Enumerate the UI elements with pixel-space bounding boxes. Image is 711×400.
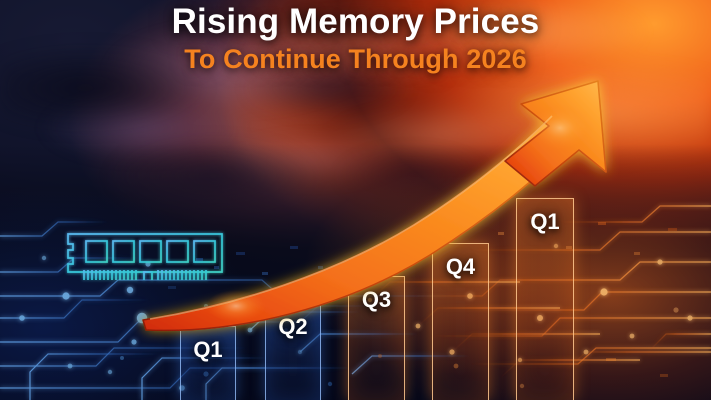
arrow-shaft: [143, 112, 583, 330]
page-title: Rising Memory Prices: [0, 3, 711, 41]
arrow-hotspot-right: [526, 104, 594, 152]
page-subtitle: To Continue Through 2026: [0, 45, 711, 75]
arrow-hotspot-left: [206, 290, 266, 322]
headline-block: Rising Memory Prices To Continue Through…: [0, 3, 711, 74]
banner-canvas: Q1 Q2 Q3 Q4 Q1 Rising Memory Prices To C…: [0, 0, 711, 400]
